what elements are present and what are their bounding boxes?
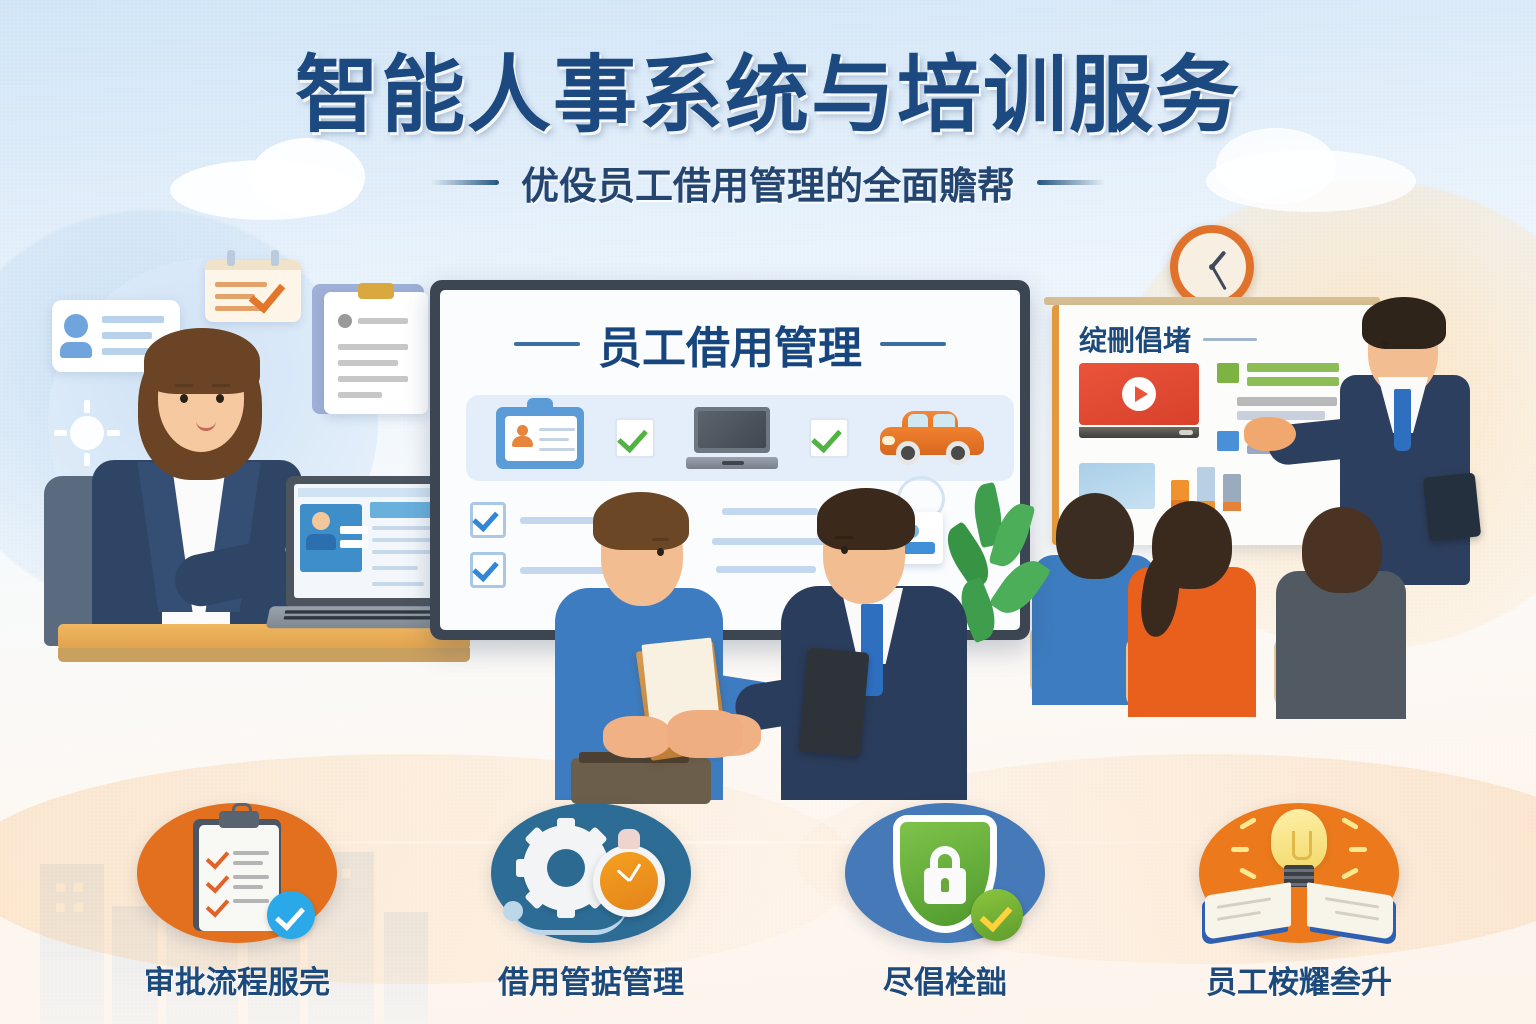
profile-avatar-icon — [64, 314, 88, 338]
attendee-grey-head — [1302, 507, 1382, 593]
hr-officer-hair-front — [144, 328, 260, 394]
employee-hair — [593, 492, 689, 550]
feature-label-borrow: 借用管掂管理 — [466, 957, 716, 1002]
feature-label-approval: 审批流程服完 — [112, 957, 362, 1002]
list-swatch-green — [1217, 363, 1239, 383]
feature-approval[interactable]: 审批流程服完 — [112, 803, 362, 1002]
green-check-badge — [971, 889, 1023, 941]
profile-avatar-body — [60, 342, 92, 358]
feature-security[interactable]: 尽倡栓韷 — [820, 803, 1070, 1002]
trainer-tie — [1394, 389, 1411, 451]
feature-borrow-management[interactable]: 借用管掂管理 — [466, 803, 716, 1002]
whiteboard-title: 绽刪倡堵 — [1079, 319, 1191, 359]
employee-hand — [603, 716, 671, 758]
asset-check-1[interactable] — [615, 418, 655, 458]
clock-minute-hand — [1211, 266, 1227, 290]
video-progress-bar[interactable] — [1079, 427, 1199, 438]
trainer-notebook — [1423, 472, 1481, 541]
play-button-icon[interactable] — [1122, 377, 1156, 411]
whiteboard-dash — [1203, 338, 1257, 341]
list-line-green-2 — [1247, 377, 1339, 386]
clipboard-widget — [324, 292, 428, 414]
laptop-asset-icon — [686, 407, 778, 469]
page-subtitle: 优伇员工借用管理的全面贍帮 — [521, 155, 1015, 210]
subtitle-dash-left — [431, 180, 499, 185]
attendee-blue-head — [1056, 493, 1134, 579]
open-book-right-page — [1307, 882, 1393, 940]
checklist-check-1[interactable] — [470, 502, 506, 538]
company-car-icon — [880, 411, 984, 465]
shield-lock-icon — [845, 803, 1045, 943]
checklist-check-2[interactable] — [470, 552, 506, 588]
list-line-green-1 — [1247, 363, 1339, 372]
monitor-dash-left — [514, 342, 580, 346]
attendee-grey-body — [1276, 571, 1406, 719]
poster-header: 智能人事系统与培训服务 优伇员工借用管理的全面贍帮 — [0, 0, 1536, 210]
calendar-widget — [205, 260, 301, 322]
trainer-pointing-hand — [1244, 417, 1296, 451]
stopwatch-icon — [593, 845, 665, 917]
asset-strip — [466, 395, 1014, 481]
feature-label-security: 尽倡栓韷 — [820, 957, 1070, 1002]
whiteboard-frame — [1044, 297, 1380, 305]
feature-label-skill: 员工桉耀叁升 — [1174, 957, 1424, 1002]
training-scene: 绽刪倡堵 — [1030, 225, 1530, 805]
monitor-title: 员工借用管理 — [598, 312, 862, 376]
subtitle-row: 优伇员工借用管理的全面贍帮 — [0, 155, 1536, 210]
monitor-dash-right — [880, 342, 946, 346]
video-progress-knob[interactable] — [1179, 430, 1193, 435]
book-lightbulb-icon — [1199, 803, 1399, 943]
feature-skill-growth[interactable]: 员工桉耀叁升 — [1174, 803, 1424, 1002]
clock-face — [1178, 233, 1246, 301]
manager-hair — [817, 488, 915, 550]
handshake-grip — [667, 710, 743, 758]
list-line-grey-1 — [1237, 397, 1337, 406]
hr-officer-scene — [40, 248, 470, 668]
blue-check-badge — [267, 891, 315, 939]
open-book-left-page — [1205, 882, 1291, 940]
list-swatch-blue — [1217, 431, 1239, 451]
trainer-hair — [1362, 297, 1446, 349]
manager-tablet — [799, 647, 870, 756]
poster-canvas: 智能人事系统与培训服务 优伇员工借用管理的全面贍帮 — [0, 0, 1536, 1024]
monitor-title-row: 员工借用管理 — [440, 290, 1020, 376]
asset-check-2[interactable] — [809, 418, 849, 458]
handshake-scene — [545, 470, 1005, 800]
subtitle-dash-right — [1037, 180, 1105, 185]
whiteboard-title-row: 绽刪倡堵 — [1059, 305, 1379, 359]
training-video-player[interactable] — [1079, 363, 1199, 425]
feature-row: 审批流程服完 — [0, 782, 1536, 1002]
id-badge-card-icon — [496, 407, 584, 469]
clipboard-check-icon — [137, 803, 337, 943]
sun-icon — [70, 416, 104, 450]
gear-stopwatch-icon — [491, 803, 691, 943]
lightbulb-icon — [1271, 809, 1327, 871]
page-title: 智能人事系统与培训服务 — [0, 52, 1536, 139]
